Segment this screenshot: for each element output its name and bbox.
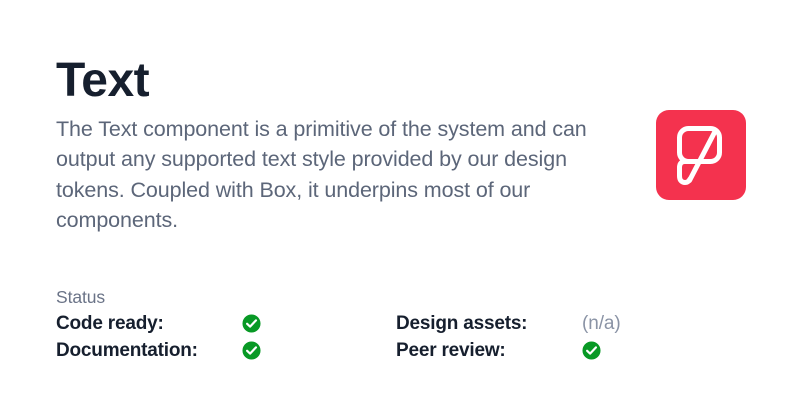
check-circle-icon xyxy=(582,341,601,360)
component-description: The Text component is a primitive of the… xyxy=(56,114,631,236)
check-circle-icon xyxy=(242,314,261,333)
status-label-design-assets: Design assets: xyxy=(396,313,582,335)
component-doc-page: Text The Text component is a primitive o… xyxy=(0,0,800,420)
status-value-design-assets: (n/a) xyxy=(582,313,621,335)
status-label-peer-review: Peer review: xyxy=(396,340,582,362)
status-section: Status Code ready: Design assets: (n/a) xyxy=(56,286,656,362)
status-value-code-ready xyxy=(242,314,261,333)
status-row-design-assets: Design assets: (n/a) xyxy=(396,313,656,335)
status-heading: Status xyxy=(56,286,656,310)
brand-p-logo-icon xyxy=(675,124,727,186)
status-label-code-ready: Code ready: xyxy=(56,313,242,335)
status-row-code-ready: Code ready: xyxy=(56,313,396,335)
page-header: Text The Text component is a primitive o… xyxy=(56,56,746,236)
brand-logo-badge xyxy=(656,110,746,200)
status-row-peer-review: Peer review: xyxy=(396,340,656,362)
header-text-block: Text The Text component is a primitive o… xyxy=(56,56,631,236)
status-grid: Code ready: Design assets: (n/a) Documen… xyxy=(56,313,656,362)
status-value-peer-review xyxy=(582,341,601,360)
page-title: Text xyxy=(56,56,631,106)
status-row-documentation: Documentation: xyxy=(56,340,396,362)
status-label-documentation: Documentation: xyxy=(56,340,242,362)
status-value-documentation xyxy=(242,341,261,360)
check-circle-icon xyxy=(242,341,261,360)
